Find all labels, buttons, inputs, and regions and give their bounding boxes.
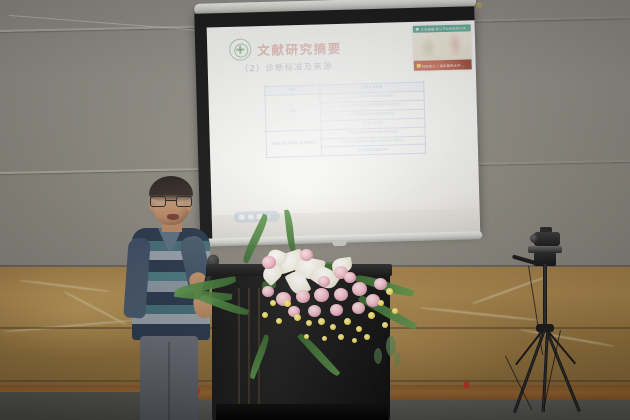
- yellow-orchid: [322, 336, 327, 341]
- yellow-orchid: [356, 326, 362, 332]
- pink-rose: [308, 305, 321, 317]
- yellow-orchid: [306, 320, 312, 326]
- live-video-frame: [413, 31, 472, 61]
- conference-room-photo: 文献研究摘要 （2）诊断标准及来源 类别 诊断标准来源 哮喘 《小儿中医诊疗标准…: [0, 0, 630, 420]
- pink-rose: [352, 302, 365, 314]
- yellow-orchid: [344, 318, 351, 325]
- pink-rose: [318, 276, 330, 287]
- live-indicator-icon: [415, 28, 418, 31]
- foliage: [394, 352, 401, 366]
- slide-data-table: 类别 诊断标准来源 哮喘 《小儿中医诊疗标准诊断标准》 西医《中华人民共和国中医…: [264, 82, 426, 159]
- screen-border: 文献研究摘要 （2）诊断标准及来源 类别 诊断标准来源 哮喘 《小儿中医诊疗标准…: [194, 6, 480, 239]
- table-group-cell: 哮喘: [265, 94, 321, 131]
- projected-slide: 文献研究摘要 （2）诊断标准及来源 类别 诊断标准来源 哮喘 《小儿中医诊疗标准…: [207, 20, 481, 241]
- eyeglasses-icon: [149, 196, 193, 207]
- live-video-overlay[interactable]: 正在直播·默认节目中医药大学... 扫码加入 | 海中医药大学...: [413, 24, 472, 71]
- pink-rose: [330, 304, 343, 316]
- yellow-orchid: [378, 300, 384, 306]
- table-cell: 《实用耳鼻咽喉科学》: [321, 145, 425, 157]
- slide-subtitle: （2）诊断标准及来源: [240, 60, 333, 75]
- yellow-orchid: [392, 308, 398, 314]
- screen-pull-tab[interactable]: [332, 241, 346, 246]
- presenter-mouth: [167, 214, 179, 220]
- slide-floating-toolbar[interactable]: [234, 211, 280, 223]
- yellow-orchid: [382, 322, 388, 328]
- camera-lens-icon: [530, 234, 539, 243]
- yellow-orchid: [352, 338, 357, 343]
- yellow-orchid: [304, 334, 309, 339]
- qr-code-icon: [416, 64, 420, 68]
- record-icon[interactable]: [248, 214, 254, 220]
- yellow-orchid: [368, 312, 375, 319]
- screen-share-icon[interactable]: [239, 214, 245, 220]
- table-group-cell: 过敏性鼻炎/鼻窦炎/腺样体肥大: [266, 130, 322, 158]
- floor-marker: [464, 382, 469, 388]
- yellow-orchid: [330, 324, 336, 330]
- pink-rose: [344, 272, 356, 283]
- projection-screen: 文献研究摘要 （2）诊断标准及来源 类别 诊断标准来源 哮喘 《小儿中医诊疗标准…: [188, 0, 483, 252]
- yellow-orchid: [338, 334, 344, 340]
- pink-rose: [300, 249, 313, 261]
- yellow-orchid: [262, 312, 268, 318]
- yellow-orchid: [284, 300, 291, 307]
- presenter-eyebrow: [177, 193, 190, 195]
- slide-title: 文献研究摘要: [257, 38, 342, 59]
- presenter-trousers: [140, 336, 198, 420]
- tripod-center-column: [543, 264, 547, 330]
- yellow-orchid: [276, 318, 282, 324]
- podium-base: [216, 404, 388, 420]
- presenter-eyebrow: [151, 193, 164, 195]
- yellow-orchid: [318, 318, 325, 325]
- pink-rose: [314, 288, 329, 302]
- yellow-orchid: [386, 288, 393, 295]
- yellow-orchid: [294, 314, 301, 321]
- pink-rose: [262, 286, 274, 297]
- pink-rose: [374, 278, 387, 290]
- pink-rose: [262, 256, 276, 269]
- foliage: [374, 348, 382, 364]
- pink-rose: [352, 282, 367, 296]
- pink-rose: [334, 288, 348, 301]
- pink-rose: [296, 290, 310, 303]
- yellow-orchid: [270, 300, 276, 306]
- yellow-orchid: [364, 334, 370, 340]
- institution-emblem-icon: [229, 38, 252, 61]
